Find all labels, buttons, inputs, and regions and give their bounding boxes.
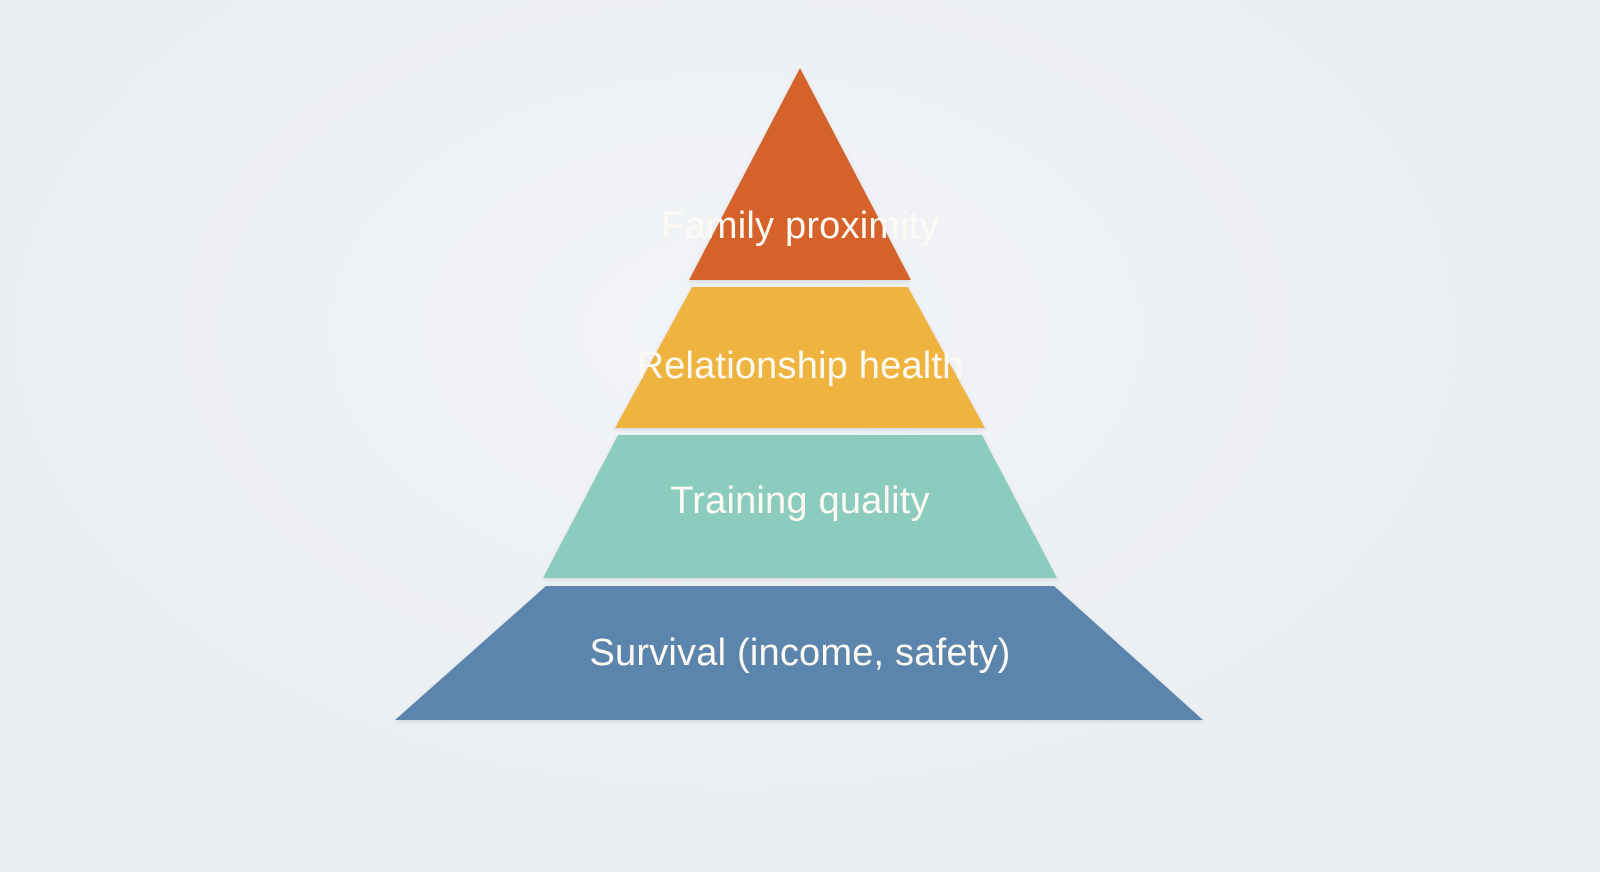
pyramid-tier-family-proximity [689,68,911,280]
pyramid-tier-survival [395,586,1203,720]
pyramid-shapes [0,0,1600,872]
needs-hierarchy-pyramid: Family proximity Relationship health Tra… [0,0,1600,872]
pyramid-tier-relationship-health [615,287,985,428]
diagram-canvas: Family proximity Relationship health Tra… [0,0,1600,872]
pyramid-tier-training-quality [543,435,1057,578]
